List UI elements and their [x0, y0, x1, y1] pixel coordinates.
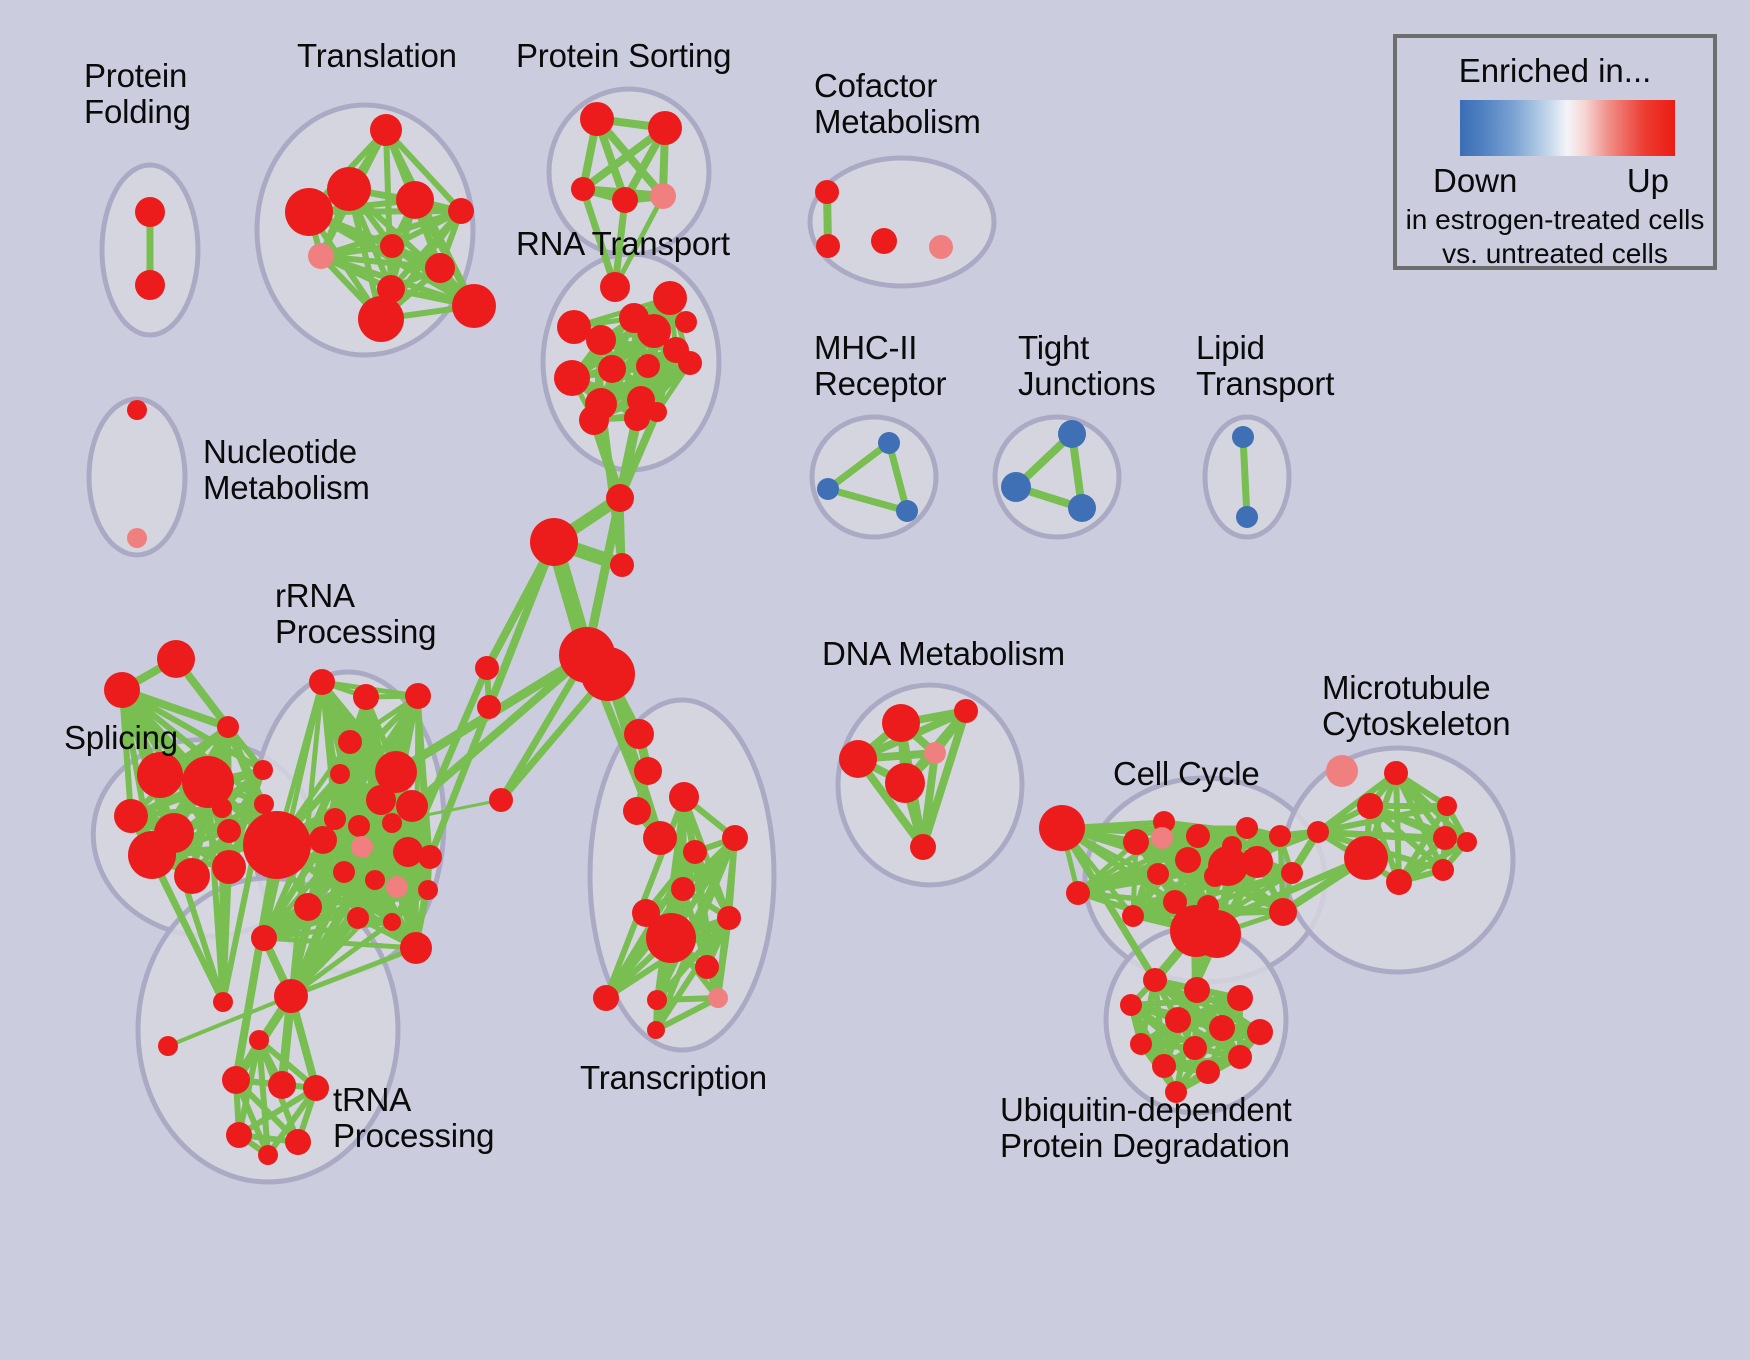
cluster-hull-mhc — [812, 417, 936, 537]
network-node — [137, 752, 183, 798]
network-node — [624, 719, 654, 749]
network-node — [217, 716, 239, 738]
cluster-label-dna-metabolism: DNA Metabolism — [822, 636, 1065, 672]
legend-up-label: Up — [1627, 162, 1669, 200]
network-node — [1437, 796, 1457, 816]
network-node — [1165, 1007, 1191, 1033]
network-node — [285, 188, 333, 236]
network-node — [489, 788, 513, 812]
network-node — [217, 819, 241, 843]
network-node — [653, 281, 687, 315]
network-node — [623, 797, 651, 825]
cluster-label-protein-folding: Protein Folding — [84, 58, 191, 129]
network-node — [396, 790, 428, 822]
network-node — [1183, 1036, 1207, 1060]
network-node — [580, 102, 614, 136]
network-node — [650, 183, 676, 209]
network-node — [330, 764, 350, 784]
network-node — [396, 181, 434, 219]
network-node — [579, 405, 609, 435]
network-node — [477, 695, 501, 719]
network-node — [636, 354, 660, 378]
network-node — [646, 913, 696, 963]
cluster-label-protein-sorting: Protein Sorting — [516, 38, 731, 74]
network-node — [896, 500, 918, 522]
network-node — [158, 1036, 178, 1056]
cluster-label-tight-junctions: Tight Junctions — [1018, 330, 1156, 401]
network-node — [254, 794, 274, 814]
network-edge — [1162, 836, 1280, 838]
network-node — [400, 932, 432, 964]
network-node — [717, 906, 741, 930]
network-node — [678, 351, 702, 375]
network-node — [212, 798, 232, 818]
network-node — [598, 355, 626, 383]
network-node — [274, 979, 308, 1013]
network-node — [393, 837, 423, 867]
network-node — [425, 253, 455, 283]
network-node — [285, 1129, 311, 1155]
network-node — [1001, 472, 1031, 502]
network-node — [1039, 805, 1085, 851]
network-node — [647, 1021, 665, 1039]
network-node — [114, 799, 148, 833]
network-node — [347, 907, 369, 929]
network-node — [1184, 977, 1210, 1003]
network-node — [1068, 494, 1096, 522]
network-node — [418, 845, 442, 869]
network-node — [1307, 821, 1329, 843]
cluster-hull-cofactor — [810, 158, 994, 286]
network-node — [624, 405, 650, 431]
network-node — [366, 785, 396, 815]
network-node — [1433, 826, 1457, 850]
network-node — [839, 740, 877, 778]
network-node — [251, 925, 277, 951]
network-node — [1236, 817, 1258, 839]
network-node — [634, 757, 662, 785]
network-node — [610, 553, 634, 577]
network-node — [1228, 1045, 1252, 1069]
network-node — [1123, 829, 1149, 855]
network-node — [1386, 869, 1412, 895]
network-node — [885, 763, 925, 803]
network-node — [910, 834, 936, 860]
network-node — [157, 640, 195, 678]
network-node — [418, 880, 438, 900]
network-node — [1122, 905, 1144, 927]
network-node — [243, 811, 311, 879]
network-node — [222, 1066, 250, 1094]
cluster-label-nucleotide-metab: Nucleotide Metabolism — [203, 434, 370, 505]
network-node — [586, 325, 616, 355]
network-node — [1269, 825, 1291, 847]
network-node — [309, 826, 337, 854]
legend-panel: Enriched in... Down Up in estrogen-treat… — [1393, 34, 1717, 270]
network-node — [1152, 1054, 1176, 1078]
network-node — [104, 672, 140, 708]
network-node — [303, 1075, 329, 1101]
network-node — [249, 1030, 269, 1050]
network-node — [606, 484, 634, 512]
network-node — [212, 850, 246, 884]
network-node — [1147, 863, 1169, 885]
network-node — [924, 742, 946, 764]
network-node — [348, 815, 370, 837]
network-node — [1281, 862, 1303, 884]
network-node — [929, 235, 953, 259]
network-node — [643, 821, 677, 855]
network-node — [530, 518, 578, 566]
network-node — [675, 311, 697, 333]
cluster-label-trna-processing: tRNA Processing — [333, 1082, 494, 1153]
network-node — [127, 400, 147, 420]
network-node — [1247, 1019, 1273, 1045]
network-node — [882, 704, 920, 742]
network-node — [612, 187, 638, 213]
network-node — [351, 836, 373, 858]
network-node — [1186, 824, 1210, 848]
cluster-label-lipid-transport: Lipid Transport — [1196, 330, 1334, 401]
network-node — [327, 167, 371, 211]
network-node — [648, 111, 682, 145]
network-node — [135, 270, 165, 300]
network-node — [380, 234, 404, 258]
network-node — [253, 760, 273, 780]
network-node — [1384, 761, 1408, 785]
network-figure: Protein FoldingTranslationProtein Sortin… — [0, 0, 1750, 1360]
network-node — [370, 114, 402, 146]
network-node — [268, 1071, 296, 1099]
network-node — [816, 234, 840, 258]
network-node — [475, 656, 499, 680]
network-node — [127, 528, 147, 548]
network-node — [1209, 1015, 1235, 1041]
network-node — [128, 831, 176, 879]
network-node — [683, 840, 707, 864]
network-node — [1326, 755, 1358, 787]
cluster-label-splicing: Splicing — [64, 720, 178, 756]
legend-title: Enriched in... — [1397, 52, 1713, 90]
network-node — [1227, 985, 1253, 1011]
network-node — [338, 730, 362, 754]
network-node — [333, 861, 355, 883]
legend-down-label: Down — [1433, 162, 1517, 200]
cluster-label-microtubule: Microtubule Cytoskeleton — [1322, 670, 1510, 741]
network-node — [593, 985, 619, 1011]
network-node — [294, 893, 322, 921]
network-node — [448, 198, 474, 224]
network-node — [647, 990, 667, 1010]
network-node — [213, 992, 233, 1012]
network-node — [1196, 1060, 1220, 1084]
network-node — [571, 177, 595, 201]
network-node — [954, 699, 978, 723]
network-node — [1432, 859, 1454, 881]
network-node — [817, 478, 839, 500]
network-node — [671, 877, 695, 901]
network-node — [386, 876, 408, 898]
network-node — [1120, 994, 1142, 1016]
network-node — [708, 988, 728, 1008]
network-node — [1193, 910, 1241, 958]
cluster-label-ubiquitin: Ubiquitin-dependent Protein Degradation — [1000, 1092, 1292, 1163]
network-node — [405, 683, 431, 709]
network-node — [1236, 506, 1258, 528]
network-node — [554, 360, 590, 396]
network-node — [815, 180, 839, 204]
network-node — [1151, 827, 1173, 849]
network-node — [1066, 881, 1090, 905]
network-node — [309, 669, 335, 695]
network-node — [1208, 846, 1248, 886]
network-node — [557, 310, 591, 344]
network-node — [383, 913, 401, 931]
network-edge — [1396, 773, 1399, 882]
cluster-label-cofactor-metabolism: Cofactor Metabolism — [814, 68, 981, 139]
network-node — [1457, 832, 1477, 852]
network-node — [1357, 793, 1383, 819]
network-node — [1175, 847, 1201, 873]
network-node — [1058, 420, 1086, 448]
legend-color-gradient — [1460, 100, 1675, 156]
cluster-label-transcription: Transcription — [580, 1060, 767, 1096]
network-node — [258, 1145, 278, 1165]
network-node — [1344, 836, 1388, 880]
network-node — [722, 825, 748, 851]
network-node — [452, 284, 496, 328]
cluster-label-rna-transport: RNA Transport — [516, 226, 730, 262]
network-node — [581, 647, 635, 701]
network-node — [135, 197, 165, 227]
network-node — [600, 272, 630, 302]
cluster-label-mhc-ii-receptor: MHC-II Receptor — [814, 330, 946, 401]
cluster-label-cell-cycle: Cell Cycle — [1113, 756, 1260, 792]
network-edge — [1243, 437, 1247, 517]
network-node — [382, 813, 402, 833]
network-node — [1130, 1033, 1152, 1055]
legend-subtitle-line1: in estrogen-treated cells — [1397, 204, 1713, 236]
network-node — [871, 228, 897, 254]
network-node — [1232, 426, 1254, 448]
network-node — [226, 1122, 252, 1148]
network-node — [174, 858, 210, 894]
network-node — [1269, 898, 1297, 926]
cluster-label-rrna-processing: rRNA Processing — [275, 578, 436, 649]
legend-subtitle-line2: vs. untreated cells — [1397, 238, 1713, 270]
network-node — [365, 870, 385, 890]
network-node — [1143, 968, 1167, 992]
network-node — [358, 296, 404, 342]
network-node — [695, 955, 719, 979]
network-node — [647, 402, 667, 422]
network-node — [308, 243, 334, 269]
network-node — [878, 432, 900, 454]
network-node — [353, 684, 379, 710]
cluster-label-translation: Translation — [297, 38, 457, 74]
network-node — [669, 782, 699, 812]
